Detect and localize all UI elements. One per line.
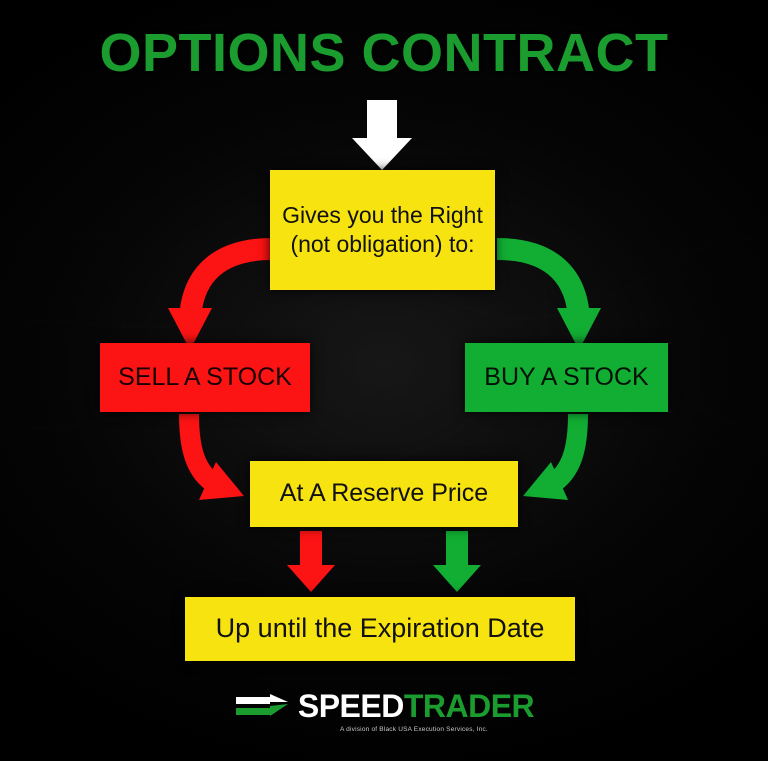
reserve-to-expiration-green-arrow xyxy=(433,531,481,592)
right-to-sell-arrow xyxy=(168,249,272,350)
speedtrader-logo[interactable]: SPEEDTRADER A division of Black USA Exec… xyxy=(0,688,768,733)
buy-to-reserve-arrow xyxy=(523,414,578,500)
logo-speed-text: SPEED xyxy=(298,688,404,724)
node-sell-a-stock[interactable]: SELL A STOCK xyxy=(100,343,310,412)
node-rights-line1: Gives you the Right xyxy=(282,201,483,230)
node-expiration-date[interactable]: Up until the Expiration Date xyxy=(185,597,575,661)
right-to-buy-arrow xyxy=(497,249,601,350)
node-rights-line2: (not obligation) to: xyxy=(282,230,483,259)
top-down-arrow xyxy=(352,100,412,170)
reserve-to-expiration-red-arrow xyxy=(287,531,335,592)
logo-wordmark: SPEEDTRADER xyxy=(298,688,534,725)
infographic-canvas: OPTIONS CONTRACT xyxy=(0,0,768,761)
node-rights-box[interactable]: Gives you the Right (not obligation) to: xyxy=(270,170,495,290)
sell-to-reserve-arrow xyxy=(189,414,244,500)
speedtrader-arrow-icon xyxy=(234,693,290,721)
logo-tagline: A division of Black USA Execution Servic… xyxy=(340,726,488,733)
node-reserve-price[interactable]: At A Reserve Price xyxy=(250,461,518,527)
logo-trader-text: TRADER xyxy=(404,688,534,724)
logo-row: SPEEDTRADER xyxy=(234,688,534,725)
node-buy-a-stock[interactable]: BUY A STOCK xyxy=(465,343,668,412)
